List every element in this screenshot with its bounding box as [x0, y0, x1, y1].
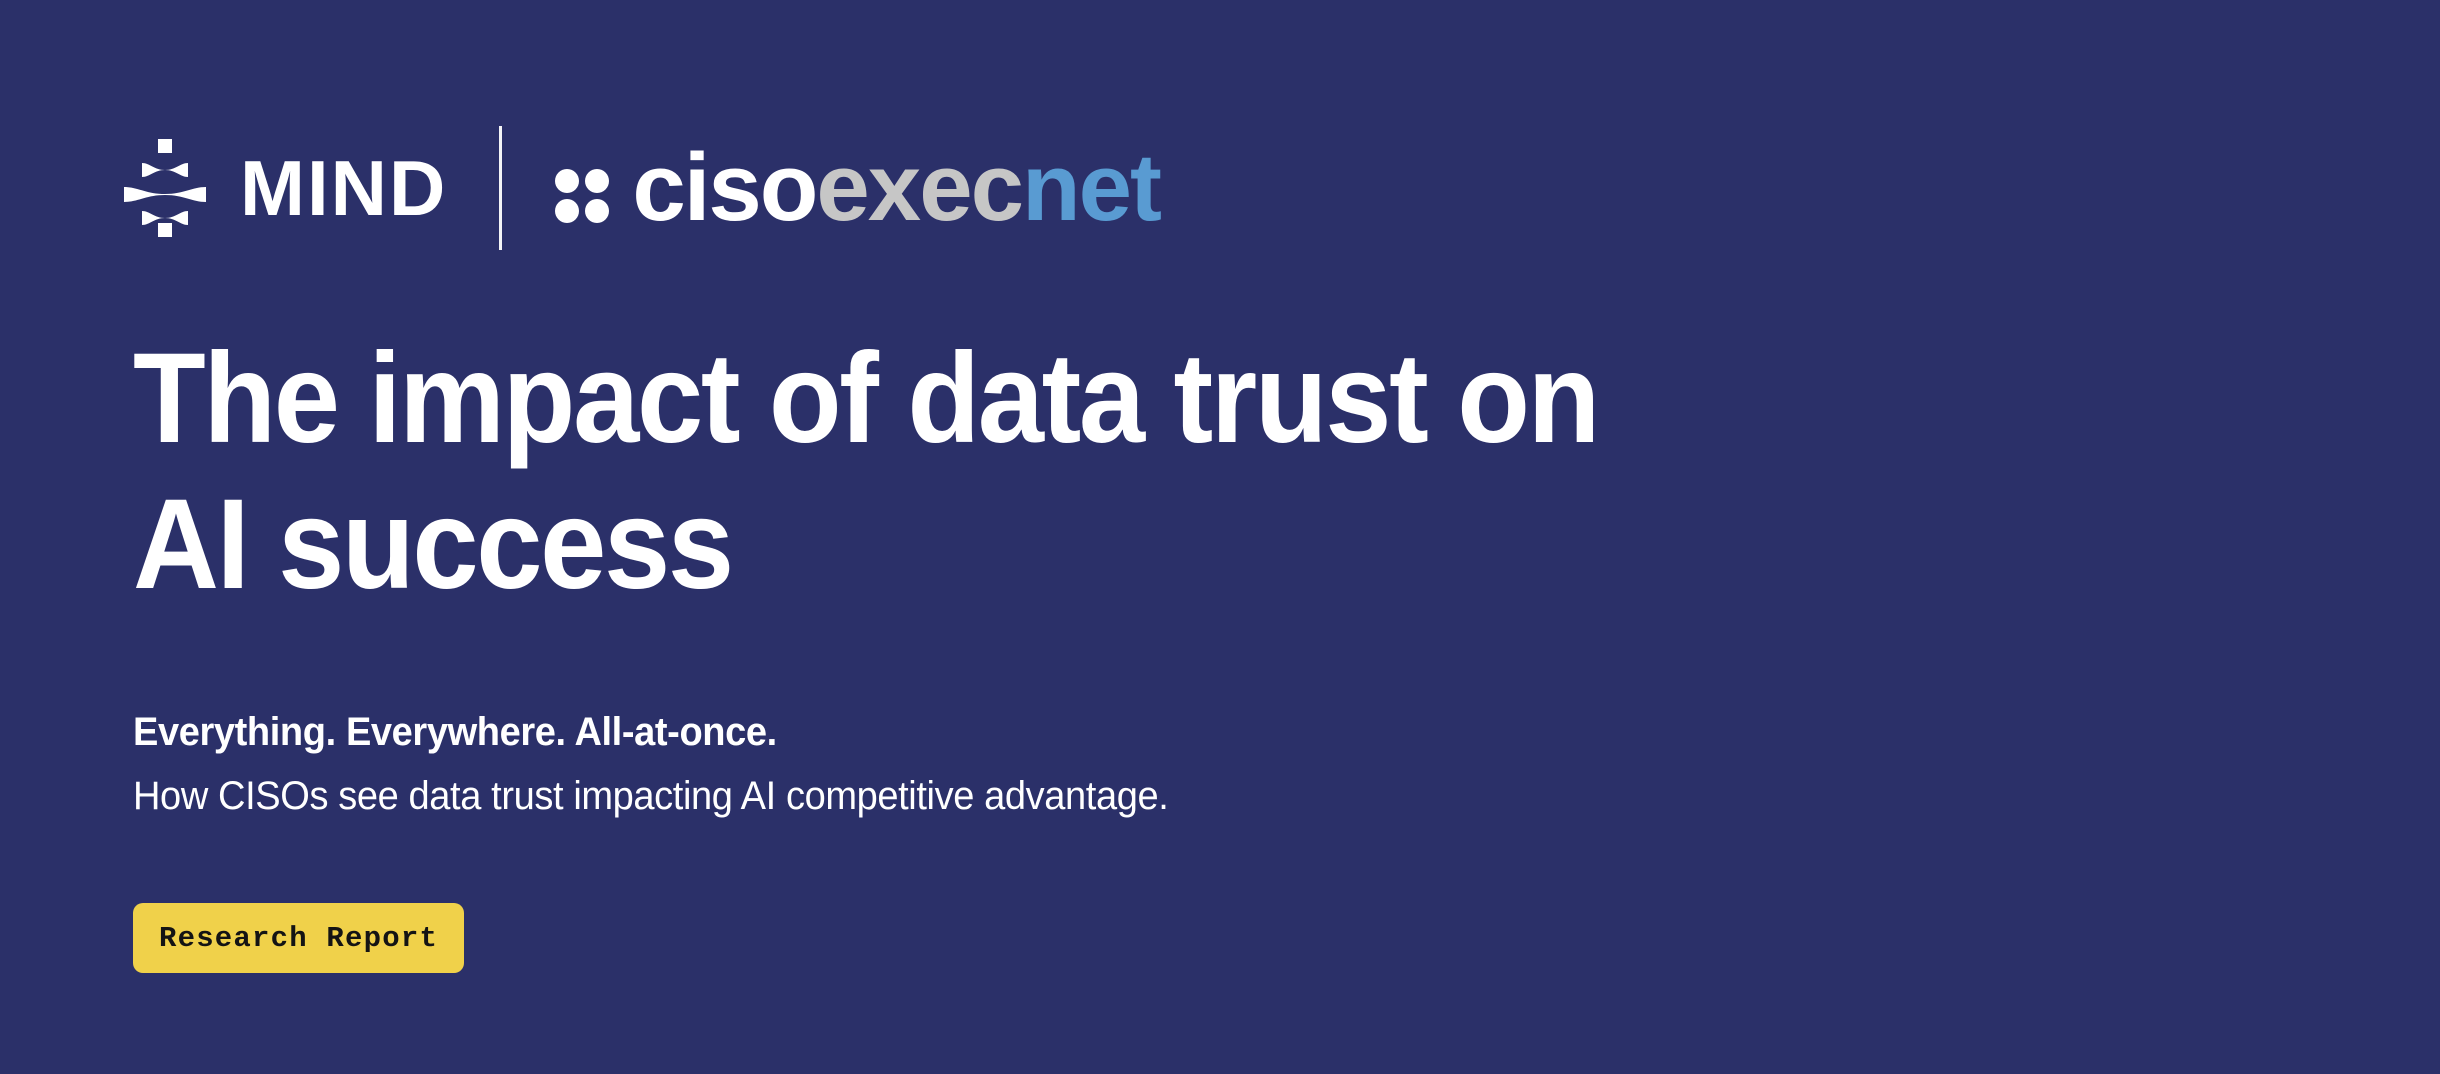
- logo-segment-exec: exec: [816, 134, 1022, 241]
- logo-bar: MIND cisoexecnet: [124, 118, 1160, 258]
- mind-wordmark: MIND: [240, 149, 447, 227]
- mind-logo[interactable]: MIND: [124, 139, 447, 237]
- page-title: The impact of data trust on AI success: [133, 326, 1807, 618]
- research-report-badge[interactable]: Research Report: [133, 903, 464, 973]
- hero-section: MIND cisoexecnet The impact of data trus…: [0, 0, 2440, 1074]
- subheading-tagline: Everything. Everywhere. All-at-once.: [133, 700, 1843, 764]
- subheading-description: How CISOs see data trust impacting AI co…: [133, 764, 1843, 828]
- double-colon-dots-icon: [554, 167, 610, 223]
- cisoexecnet-logo[interactable]: cisoexecnet: [554, 140, 1160, 236]
- cisoexecnet-wordmark: cisoexecnet: [632, 140, 1160, 236]
- logo-segment-net: net: [1022, 134, 1160, 241]
- logo-divider: [499, 126, 502, 250]
- mind-glyph-icon: [124, 139, 206, 237]
- headline-line-2: AI success: [133, 472, 1807, 618]
- headline-line-1: The impact of data trust on: [133, 326, 1807, 472]
- logo-segment-ciso: ciso: [632, 134, 816, 241]
- subheading-block: Everything. Everywhere. All-at-once. How…: [133, 700, 1843, 828]
